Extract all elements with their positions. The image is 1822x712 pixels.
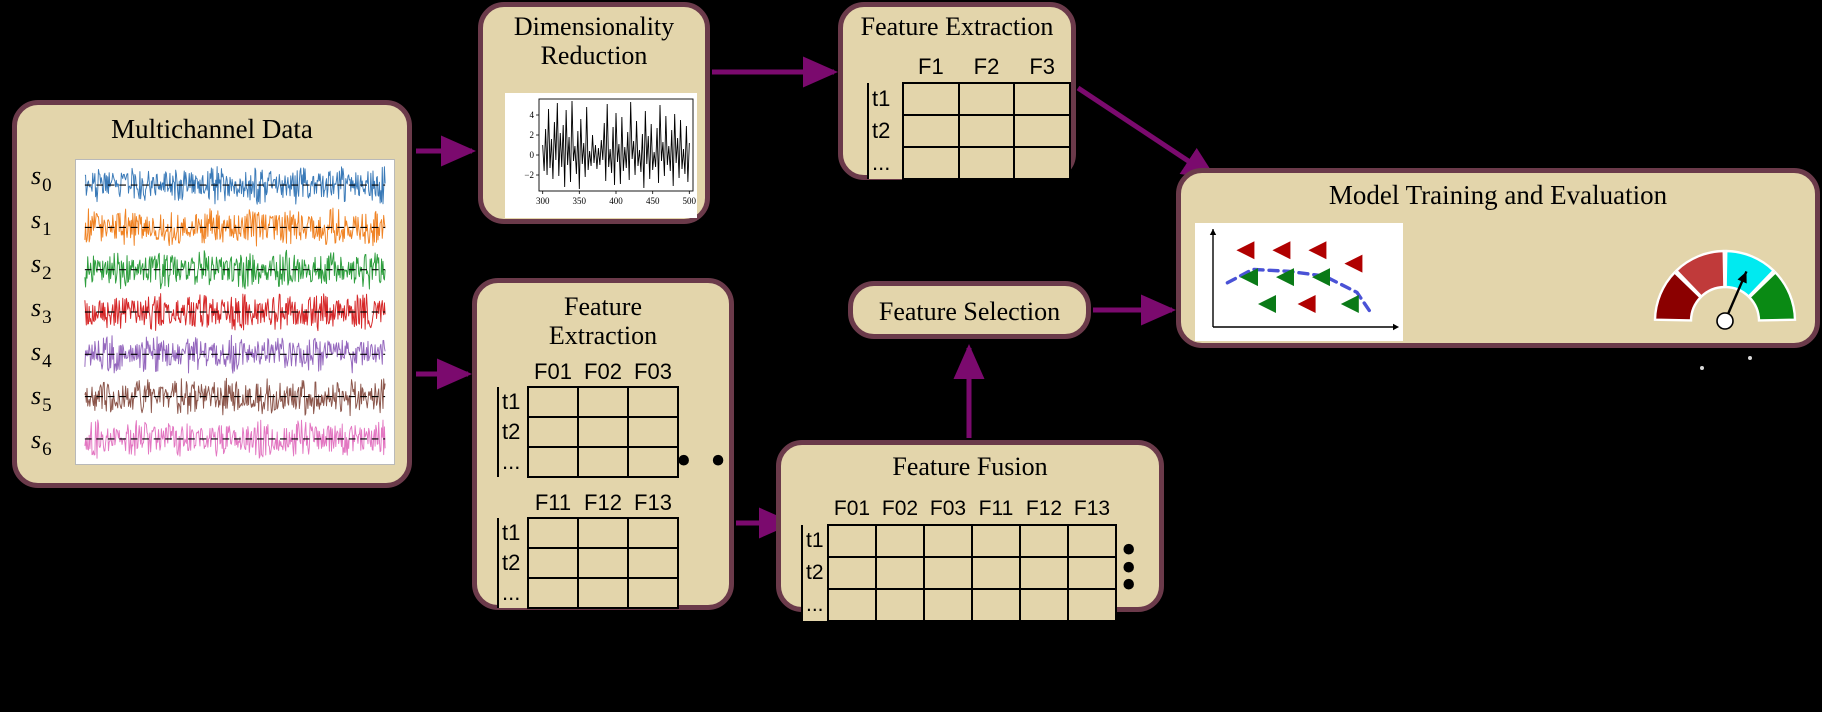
svg-text:2: 2 <box>530 130 535 140</box>
table-cell <box>578 447 628 477</box>
column-header: F13 <box>1068 493 1116 525</box>
feature-extraction-top-table: F1 F2 F3 t1 t2 ... <box>867 51 1071 180</box>
feature-selection-box[interactable]: Feature Selection <box>848 281 1091 339</box>
svg-text:450: 450 <box>646 196 660 206</box>
table-cell <box>578 387 628 417</box>
feature-fusion-table: F01 F02 F03 F11 F12 F13 t1 t2 <box>801 493 1117 622</box>
table-row: t1 <box>802 525 1116 557</box>
dimensionality-reduction-box[interactable]: Dimensionality Reduction −20243003504004… <box>478 2 710 224</box>
table-header-row: F01 F02 F03 F11 F12 F13 <box>802 493 1116 525</box>
feature-extraction-mid-table-1: F01 F02 F03 t1 t2 ... <box>497 357 679 478</box>
table-cell <box>628 548 678 578</box>
table-cell <box>924 589 972 621</box>
table-cell <box>528 387 578 417</box>
column-header: F12 <box>578 488 628 518</box>
column-header: F03 <box>628 357 678 387</box>
feature-extraction-mid-table1-wrap: F01 F02 F03 t1 t2 ... <box>497 357 679 478</box>
row-header: t2 <box>498 417 528 447</box>
table-row: ... <box>498 578 678 608</box>
row-header: ... <box>498 447 528 477</box>
column-header: F02 <box>876 493 924 525</box>
table-cell <box>578 578 628 608</box>
table-cell <box>528 518 578 548</box>
feature-extraction-mid-table2-wrap: F11 F12 F13 t1 t2 ... <box>497 488 679 609</box>
table-cell <box>1014 115 1070 147</box>
feature-fusion-box[interactable]: Feature Fusion F01 F02 F03 F11 F12 F13 t… <box>776 440 1164 612</box>
row-header: t1 <box>498 387 528 417</box>
table-row: t2 <box>498 417 678 447</box>
multichannel-data-box[interactable]: Multichannel Data s0 s1 s2 s3 s4 s5 s6 <box>12 100 412 488</box>
performance-gauge-icon <box>1649 225 1801 337</box>
channel-label-s5: s5 <box>31 381 51 411</box>
multichannel-signal-plot <box>75 159 395 465</box>
table-cell <box>628 387 678 417</box>
table-cell <box>1020 557 1068 589</box>
table-row: ... <box>868 147 1070 179</box>
feature-fusion-table-wrap: F01 F02 F03 F11 F12 F13 t1 t2 <box>801 493 1117 622</box>
table-row: t2 <box>498 548 678 578</box>
table-cell <box>1020 525 1068 557</box>
table-cell <box>528 548 578 578</box>
table-cell <box>959 115 1015 147</box>
feature-extraction-top-table-wrap: F1 F2 F3 t1 t2 ... <box>867 51 1071 180</box>
table-cell <box>628 578 678 608</box>
column-header: F2 <box>959 51 1015 83</box>
table-cell <box>578 518 628 548</box>
table-cell <box>1014 83 1070 115</box>
model-training-box[interactable]: Model Training and Evaluation <box>1176 168 1820 348</box>
table-cell <box>578 548 628 578</box>
table-corner <box>868 51 903 83</box>
svg-text:500: 500 <box>683 196 697 206</box>
table-cell <box>876 557 924 589</box>
column-header: F11 <box>972 493 1020 525</box>
arrow-featext-top-to-model <box>1078 88 1214 178</box>
decision-boundary-scatter-plot <box>1195 223 1403 341</box>
channel-label-list: s0 s1 s2 s3 s4 s5 s6 <box>25 153 75 471</box>
feature-extraction-ellipsis: • • • <box>676 452 764 470</box>
table-cell <box>924 525 972 557</box>
feature-selection-title: Feature Selection <box>853 298 1086 327</box>
row-header: t2 <box>802 557 828 589</box>
table-cell <box>1068 557 1116 589</box>
table-cell <box>959 83 1015 115</box>
table-corner <box>802 493 828 525</box>
svg-text:4: 4 <box>530 110 535 120</box>
table-row: t1 <box>498 518 678 548</box>
table-corner <box>498 357 528 387</box>
table-header-row: F11 F12 F13 <box>498 488 678 518</box>
svg-text:−2: −2 <box>524 170 534 180</box>
table-cell <box>903 147 959 179</box>
table-row: t1 <box>868 83 1070 115</box>
feature-fusion-ellipsis: • • • <box>1121 541 1159 594</box>
table-cell <box>1014 147 1070 179</box>
channel-label-s6: s6 <box>31 425 51 455</box>
column-header: F01 <box>528 357 578 387</box>
table-cell <box>876 589 924 621</box>
table-cell <box>924 557 972 589</box>
svg-text:350: 350 <box>573 196 587 206</box>
svg-text:300: 300 <box>536 196 550 206</box>
dimensionality-reduction-chart: −2024300350400450500 <box>505 93 697 218</box>
table-cell <box>628 417 678 447</box>
row-header: ... <box>868 147 903 179</box>
feature-extraction-mid-title: Feature Extraction <box>477 293 729 350</box>
table-cell <box>903 115 959 147</box>
svg-text:0: 0 <box>530 150 535 160</box>
table-corner <box>498 488 528 518</box>
row-header: ... <box>498 578 528 608</box>
feature-extraction-top-box[interactable]: Feature Extraction F1 F2 F3 t1 t2 <box>838 2 1076 180</box>
feature-extraction-top-title: Feature Extraction <box>843 13 1071 42</box>
channel-label-s2: s2 <box>31 249 51 279</box>
row-header: t1 <box>868 83 903 115</box>
model-training-title: Model Training and Evaluation <box>1181 181 1815 211</box>
row-header: t2 <box>498 548 528 578</box>
feature-extraction-mid-table-2: F11 F12 F13 t1 t2 ... <box>497 488 679 609</box>
table-cell <box>1020 589 1068 621</box>
diagram-canvas: Multichannel Data s0 s1 s2 s3 s4 s5 s6 D… <box>0 0 1822 712</box>
table-cell <box>1068 589 1116 621</box>
multichannel-body: s0 s1 s2 s3 s4 s5 s6 <box>25 153 399 471</box>
table-cell <box>828 525 876 557</box>
table-cell <box>876 525 924 557</box>
channel-label-s1: s1 <box>31 205 51 235</box>
table-cell <box>628 447 678 477</box>
row-header: ... <box>802 589 828 621</box>
table-cell <box>959 147 1015 179</box>
table-cell <box>528 417 578 447</box>
table-row: t2 <box>868 115 1070 147</box>
table-row: ... <box>498 447 678 477</box>
svg-text:400: 400 <box>609 196 623 206</box>
channel-label-s3: s3 <box>31 293 51 323</box>
channel-label-s0: s0 <box>31 161 51 191</box>
dimensionality-reduction-title: Dimensionality Reduction <box>483 13 705 70</box>
table-cell <box>1068 525 1116 557</box>
row-header: t1 <box>498 518 528 548</box>
channel-label-s4: s4 <box>31 337 51 367</box>
table-row: ... <box>802 589 1116 621</box>
table-cell <box>972 557 1020 589</box>
column-header: F03 <box>924 493 972 525</box>
column-header: F02 <box>578 357 628 387</box>
column-header: F1 <box>903 51 959 83</box>
row-header: t1 <box>802 525 828 557</box>
table-header-row: F01 F02 F03 <box>498 357 678 387</box>
table-row: t1 <box>498 387 678 417</box>
table-cell <box>903 83 959 115</box>
table-cell <box>972 525 1020 557</box>
column-header: F11 <box>528 488 578 518</box>
table-header-row: F1 F2 F3 <box>868 51 1070 83</box>
feature-fusion-title: Feature Fusion <box>781 453 1159 482</box>
column-header: F12 <box>1020 493 1068 525</box>
table-row: t2 <box>802 557 1116 589</box>
column-header: F13 <box>628 488 678 518</box>
row-header: t2 <box>868 115 903 147</box>
multichannel-title: Multichannel Data <box>17 115 407 145</box>
table-cell <box>972 589 1020 621</box>
column-header: F01 <box>828 493 876 525</box>
table-cell <box>628 518 678 548</box>
table-cell <box>828 589 876 621</box>
table-cell <box>528 447 578 477</box>
table-cell <box>528 578 578 608</box>
table-cell <box>828 557 876 589</box>
table-cell <box>578 417 628 447</box>
column-header: F3 <box>1014 51 1070 83</box>
